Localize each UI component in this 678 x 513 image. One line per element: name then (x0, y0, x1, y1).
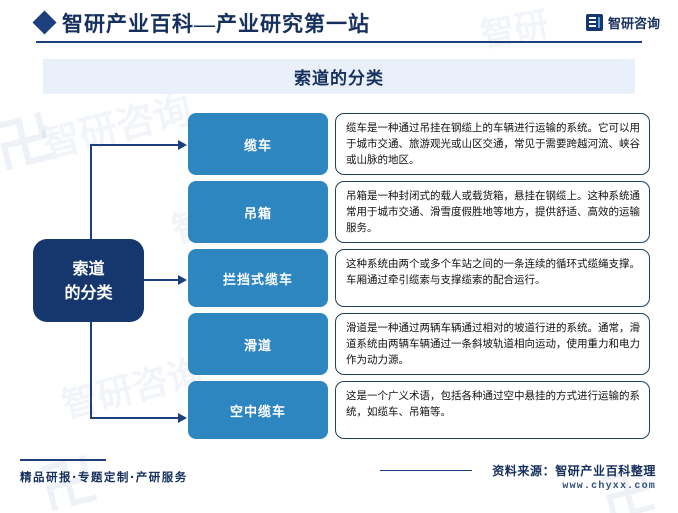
page-footer: 精品研报·专题定制·产研服务 资料来源：智研产业百科整理 www.chyxx.c… (0, 451, 678, 513)
footer-divider-right (380, 470, 472, 471)
category-box[interactable]: 缆车 (188, 113, 328, 175)
footer-url[interactable]: www.chyxx.com (562, 481, 656, 492)
footer-source: 资料来源：智研产业百科整理 (492, 462, 656, 479)
root-node-line1: 索道 (72, 257, 104, 280)
classification-diagram: 索道 的分类 缆车 缆车是一种通过吊挂在钢缆上的车辆进行运输的系统。它可以用于城… (0, 100, 678, 450)
footer-tagline: 精品研报·专题定制·产研服务 (20, 469, 188, 485)
diagram-row: 空中缆车 这是一个广义术语，包括各种通过空中悬挂的方式进行运输的系统，如缆车、吊… (188, 381, 650, 439)
description-box: 滑道是一种通过两辆车辆通过相对的坡道行进的系统。通常，滑道系统由两辆车辆通过一条… (335, 313, 650, 375)
diagram-row: 缆车 缆车是一种通过吊挂在钢缆上的车辆进行运输的系统。它可以用于城市交通、旅游观… (188, 113, 650, 175)
description-box: 吊箱是一种封闭式的载人或载货箱，悬挂在钢缆上。这种系统通常用于城市交通、滑雪度假… (335, 181, 650, 243)
brand-logo: 智研咨询 (586, 13, 660, 32)
description-box: 缆车是一种通过吊挂在钢缆上的车辆进行运输的系统。它可以用于城市交通、旅游观光或山… (335, 113, 650, 175)
diagram-row: 滑道 滑道是一种通过两辆车辆通过相对的坡道行进的系统。通常，滑道系统由两辆车辆通… (188, 313, 650, 375)
arrow-head-row1-icon (178, 140, 187, 150)
diagram-row: 吊箱 吊箱是一种封闭式的载人或载货箱，悬挂在钢缆上。这种系统通常用于城市交通、滑… (188, 181, 650, 243)
header-divider (36, 41, 642, 43)
section-title-banner: 索道的分类 (43, 59, 635, 94)
section-title: 索道的分类 (294, 64, 384, 89)
page-header: 智研产业百科—产业研究第一站 智研咨询 (0, 0, 678, 46)
connector-horizontal-row5 (90, 417, 184, 419)
arrow-head-row5-icon (178, 413, 187, 423)
page-root: 卍 智研咨询 智研咨询 智研咨询 卍 卍 智研 智研产业百科—产业研究第一站 智… (0, 0, 678, 513)
connector-vertical-upper (90, 144, 92, 239)
diamond-icon (32, 10, 56, 34)
footer-divider-left (20, 459, 106, 461)
zhiyan-logo-icon (586, 14, 603, 31)
category-box[interactable]: 空中缆车 (188, 381, 328, 439)
page-title: 智研产业百科—产业研究第一站 (62, 8, 370, 38)
arrow-head-row3-icon (178, 275, 187, 285)
category-box[interactable]: 拦挡式缆车 (188, 249, 328, 307)
description-box: 这是一个广义术语，包括各种通过空中悬挂的方式进行运输的系统，如缆车、吊箱等。 (335, 381, 650, 439)
diagram-row: 拦挡式缆车 这种系统由两个或多个车站之间的一条连续的循环式缆绳支撑。车厢通过牵引… (188, 249, 650, 307)
brand-name: 智研咨询 (608, 13, 660, 32)
connector-horizontal-row1 (90, 144, 184, 146)
category-box[interactable]: 吊箱 (188, 181, 328, 243)
root-node: 索道 的分类 (33, 239, 144, 322)
description-box: 这种系统由两个或多个车站之间的一条连续的循环式缆绳支撑。车厢通过牵引缆索与支撑缆… (335, 249, 650, 307)
root-node-line2: 的分类 (64, 281, 112, 304)
connector-vertical-lower (90, 322, 92, 419)
category-box[interactable]: 滑道 (188, 313, 328, 375)
